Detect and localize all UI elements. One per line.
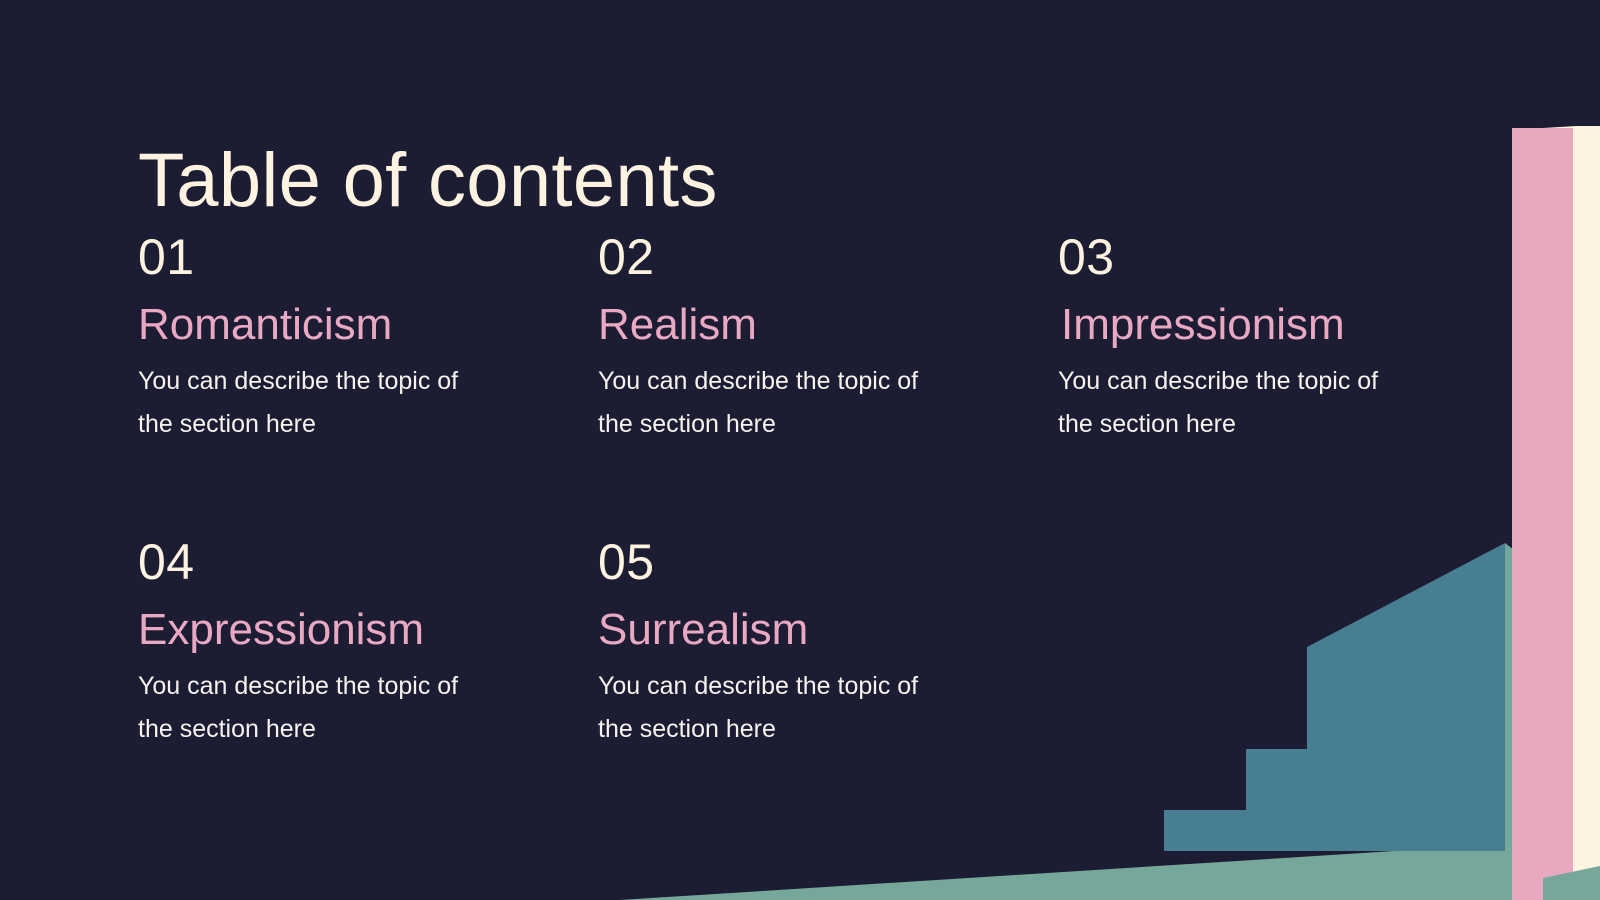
- toc-title: Realism: [598, 302, 998, 348]
- toc-description: You can describe the topic of the sectio…: [598, 665, 958, 751]
- toc-description: You can describe the topic of the sectio…: [138, 360, 498, 446]
- toc-title: Romanticism: [138, 302, 538, 348]
- page-title: Table of contents: [138, 143, 718, 219]
- toc-description: You can describe the topic of the sectio…: [598, 360, 958, 446]
- toc-item-05[interactable]: 05 Surrealism You can describe the topic…: [598, 537, 998, 751]
- toc-description: You can describe the topic of the sectio…: [1058, 360, 1418, 446]
- toc-item-03[interactable]: 03 Impressionism You can describe the to…: [1058, 232, 1458, 537]
- toc-number: 05: [598, 537, 998, 587]
- toc-description: You can describe the topic of the sectio…: [138, 665, 498, 751]
- toc-title: Surrealism: [598, 607, 998, 653]
- slide-canvas: Table of contents 01 Romanticism You can…: [0, 0, 1600, 900]
- slide-content: Table of contents 01 Romanticism You can…: [0, 0, 1600, 900]
- toc-item-02[interactable]: 02 Realism You can describe the topic of…: [598, 232, 998, 537]
- toc-number: 02: [598, 232, 998, 282]
- toc-title: Expressionism: [138, 607, 538, 653]
- table-of-contents-grid: 01 Romanticism You can describe the topi…: [138, 232, 1518, 751]
- toc-item-01[interactable]: 01 Romanticism You can describe the topi…: [138, 232, 538, 537]
- toc-title: Impressionism: [1058, 302, 1458, 348]
- toc-item-04[interactable]: 04 Expressionism You can describe the to…: [138, 537, 538, 751]
- toc-number: 01: [138, 232, 538, 282]
- toc-number: 04: [138, 537, 538, 587]
- toc-number: 03: [1058, 232, 1458, 282]
